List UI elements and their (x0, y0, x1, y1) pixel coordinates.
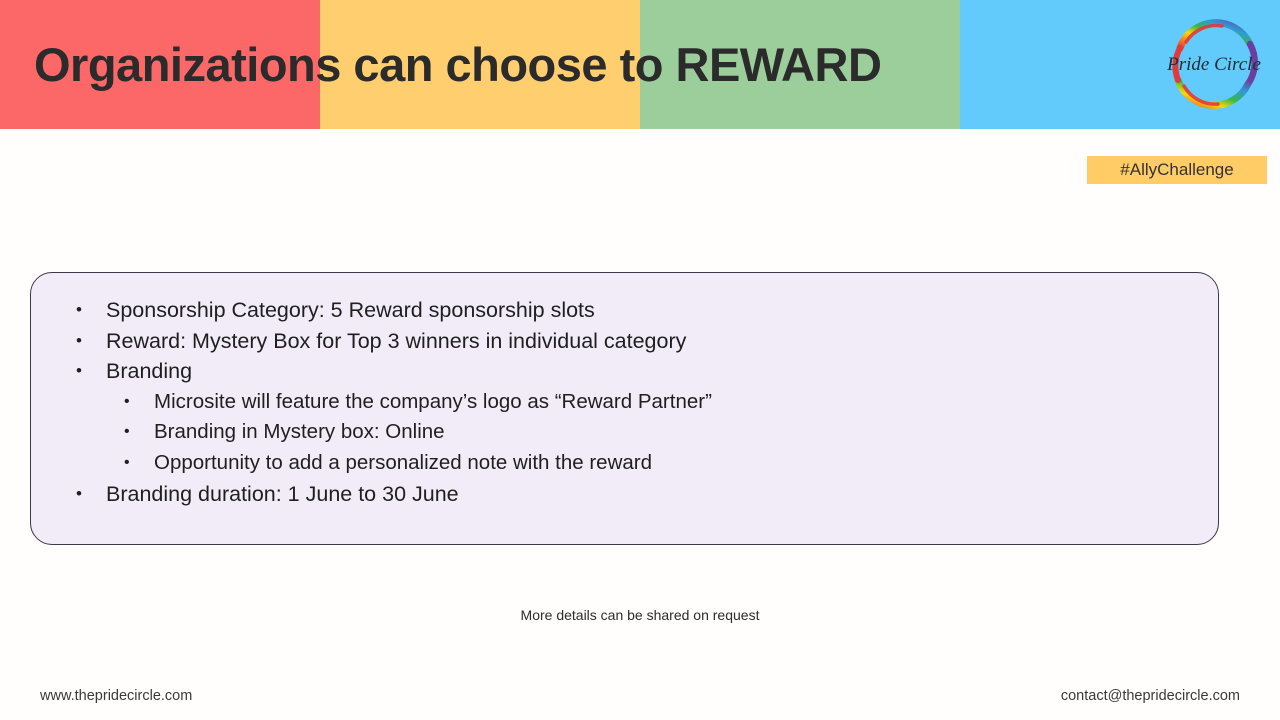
list-item: Reward: Mystery Box for Top 3 winners in… (31, 326, 1218, 357)
sub-list-item: Branding in Mystery box: Online (31, 417, 1218, 448)
footer-email[interactable]: contact@thepridecircle.com (1061, 688, 1240, 704)
list-item: Branding duration: 1 June to 30 June (31, 479, 1218, 510)
list-item: Branding (31, 356, 1218, 387)
bullet-list: Sponsorship Category: 5 Reward sponsorsh… (31, 295, 1218, 509)
sub-list-item: Opportunity to add a personalized note w… (31, 448, 1218, 479)
logo-wordmark: Pride Circle (1166, 54, 1261, 75)
details-panel: Sponsorship Category: 5 Reward sponsorsh… (30, 272, 1219, 545)
request-note: More details can be shared on request (0, 607, 1280, 623)
sub-bullet-list: Microsite will feature the company’s log… (31, 387, 1218, 479)
pride-circle-logo: Pride Circle (1162, 12, 1266, 116)
footer-website[interactable]: www.thepridecircle.com (40, 688, 192, 704)
ally-challenge-badge: #AllyChallenge (1087, 156, 1267, 184)
sub-list-item: Microsite will feature the company’s log… (31, 387, 1218, 418)
list-item: Sponsorship Category: 5 Reward sponsorsh… (31, 295, 1218, 326)
page-title: Organizations can choose to REWARD (34, 0, 881, 129)
